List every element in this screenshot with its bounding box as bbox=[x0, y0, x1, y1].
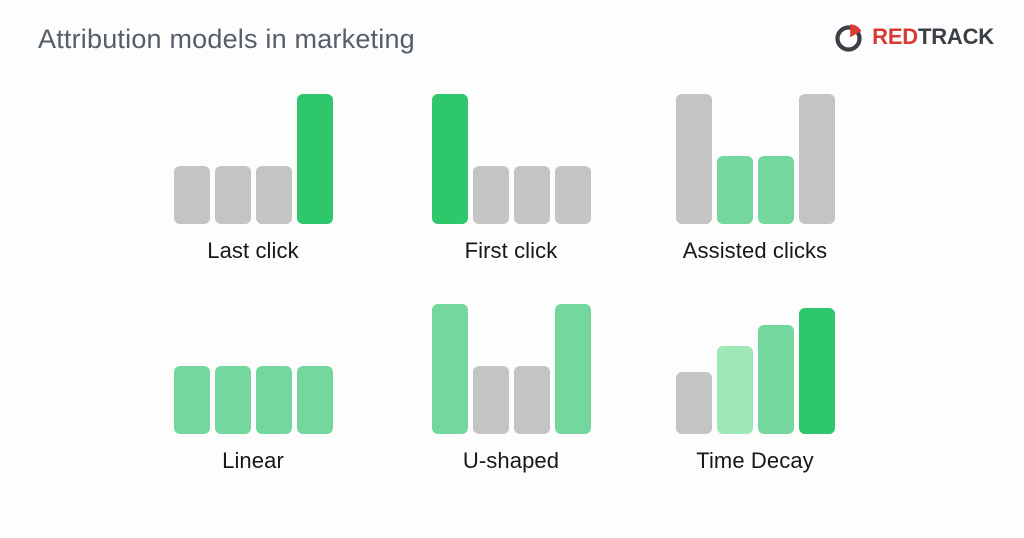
bar bbox=[473, 166, 509, 225]
redtrack-donut-icon bbox=[834, 22, 865, 53]
attribution-model-chart-grid: Last click First click Assisted clicks L… bbox=[0, 78, 1024, 498]
bar bbox=[432, 94, 468, 224]
bar bbox=[215, 366, 251, 434]
bar bbox=[256, 366, 292, 434]
bar bbox=[297, 366, 333, 434]
logo-word-track: TRACK bbox=[918, 24, 994, 49]
bar bbox=[297, 94, 333, 224]
redtrack-logo: REDTRACK bbox=[834, 20, 994, 54]
page-title: Attribution models in marketing bbox=[38, 24, 415, 55]
chart-title: First click bbox=[388, 238, 634, 264]
bar bbox=[799, 308, 835, 434]
chart-title: Last click bbox=[130, 238, 376, 264]
bar-group bbox=[632, 304, 878, 434]
bar bbox=[717, 346, 753, 434]
bar bbox=[215, 166, 251, 225]
chart-time-decay: Time Decay bbox=[632, 292, 878, 482]
bar bbox=[799, 94, 835, 224]
bar bbox=[174, 166, 210, 225]
bar bbox=[676, 372, 712, 434]
chart-first-click: First click bbox=[388, 82, 634, 272]
bar-group bbox=[388, 304, 634, 434]
bar bbox=[174, 366, 210, 434]
bar-group bbox=[388, 94, 634, 224]
chart-linear: Linear bbox=[130, 292, 376, 482]
bar bbox=[676, 94, 712, 224]
bar bbox=[717, 156, 753, 224]
bar bbox=[514, 366, 550, 434]
bar bbox=[256, 166, 292, 225]
bar bbox=[758, 325, 794, 434]
bar bbox=[432, 304, 468, 434]
bar-group bbox=[632, 94, 878, 224]
bar bbox=[473, 366, 509, 434]
bar-group bbox=[130, 304, 376, 434]
header: Attribution models in marketing REDTRACK bbox=[0, 0, 1024, 78]
bar bbox=[514, 166, 550, 225]
chart-assisted-clicks: Assisted clicks bbox=[632, 82, 878, 272]
chart-last-click: Last click bbox=[130, 82, 376, 272]
logo-word-red: RED bbox=[872, 24, 918, 49]
bar-group bbox=[130, 94, 376, 224]
chart-title: Time Decay bbox=[632, 448, 878, 474]
chart-title: U-shaped bbox=[388, 448, 634, 474]
chart-title: Assisted clicks bbox=[632, 238, 878, 264]
chart-u-shaped: U-shaped bbox=[388, 292, 634, 482]
bar bbox=[555, 304, 591, 434]
bar bbox=[555, 166, 591, 225]
chart-title: Linear bbox=[130, 448, 376, 474]
redtrack-wordmark: REDTRACK bbox=[872, 26, 994, 48]
bar bbox=[758, 156, 794, 224]
